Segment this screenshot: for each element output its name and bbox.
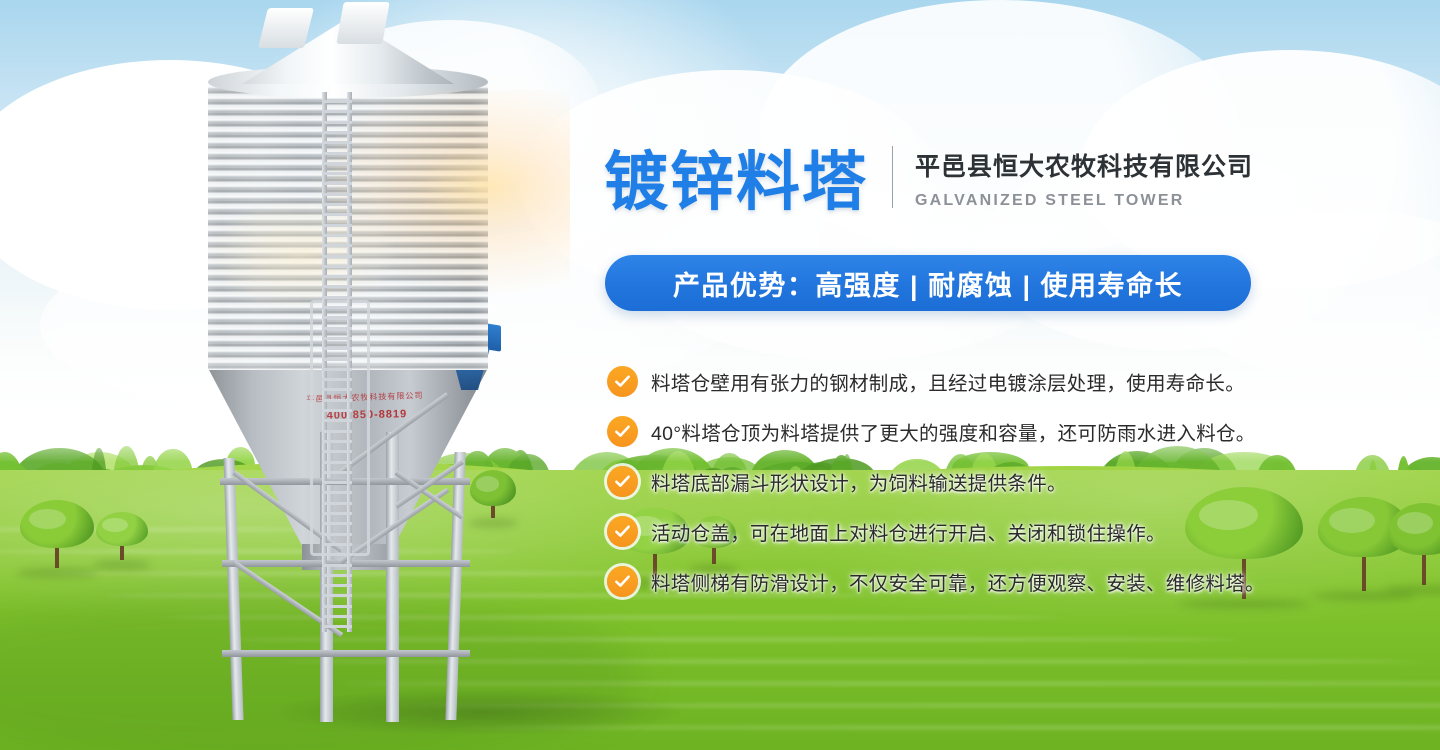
ladder-rung [322, 533, 352, 536]
feature-list: 料塔仓壁用有张力的钢材制成，且经过电镀涂层处理，使用寿命长。40°料塔仓顶为料塔… [607, 356, 1301, 606]
ladder-rung [322, 481, 352, 484]
check-icon [607, 566, 638, 597]
page-title: 镀锌料塔 [604, 150, 868, 214]
silo-roof-vent [258, 8, 314, 48]
ladder-rung [322, 450, 352, 453]
feature-item: 活动仓盖，可在地面上对料仓进行开启、关闭和锁住操作。 [607, 506, 1301, 556]
ladder-rung [322, 141, 352, 144]
ladder-rung [322, 594, 352, 597]
feature-text: 40°料塔仓顶为料塔提供了更大的强度和容量，还可防雨水进入料仓。 [651, 417, 1256, 446]
ladder-rung [322, 255, 352, 258]
ladder-rung [322, 553, 352, 556]
ladder-rung [322, 625, 352, 628]
feature-text: 活动仓盖，可在地面上对料仓进行开启、关闭和锁住操作。 [651, 517, 1166, 546]
silo-leg [223, 458, 243, 720]
feature-item: 料塔底部漏斗形状设计，为饲料输送提供条件。 [607, 456, 1301, 506]
ladder-rung [322, 224, 352, 227]
ladder-rung [322, 409, 352, 412]
check-icon [607, 516, 638, 547]
ladder-rung [322, 491, 352, 494]
title-row: 镀锌料塔 平邑县恒大农牧科技有限公司 GALVANIZED STEEL TOWE… [604, 118, 1253, 214]
company-name-en: GALVANIZED STEEL TOWER [915, 192, 1253, 210]
feature-item: 料塔侧梯有防滑设计，不仅安全可靠，还方便观察、安装、维修料塔。 [607, 556, 1301, 606]
advantage-pill: 产品优势：高强度 | 耐腐蚀 | 使用寿命长 [605, 255, 1251, 311]
tree [96, 512, 148, 566]
ladder-rung [322, 234, 352, 237]
ladder-rung [322, 574, 352, 577]
ladder-rung [322, 368, 352, 371]
silo-side-ladder [322, 92, 352, 632]
feature-text: 料塔侧梯有防滑设计，不仅安全可靠，还方便观察、安装、维修料塔。 [651, 567, 1265, 596]
silo-roof-vent [336, 2, 389, 44]
ladder-rung [322, 265, 352, 268]
ladder-rung [322, 461, 352, 464]
ladder-rung [322, 110, 352, 113]
ladder-rung [322, 512, 352, 515]
ladder-rung [322, 285, 352, 288]
ladder-rung [322, 316, 352, 319]
ladder-rung [322, 131, 352, 134]
company-block: 平邑县恒大农牧科技有限公司 GALVANIZED STEEL TOWER [915, 147, 1253, 214]
advantage-pill-label: 产品优势：高强度 | 耐腐蚀 | 使用寿命长 [673, 264, 1183, 303]
feature-text: 料塔仓壁用有张力的钢材制成，且经过电镀涂层处理，使用寿命长。 [651, 367, 1245, 396]
feature-text: 料塔底部漏斗形状设计，为饲料输送提供条件。 [651, 467, 1067, 496]
silo-horizontal-brace [222, 650, 470, 657]
ladder-rung [322, 121, 352, 124]
ladder-rung [322, 605, 352, 608]
ladder-rung [322, 172, 352, 175]
ladder-rung [322, 430, 352, 433]
ladder-rung [322, 399, 352, 402]
ladder-rung [322, 182, 352, 185]
feature-item: 料塔仓壁用有张力的钢材制成，且经过电镀涂层处理，使用寿命长。 [607, 356, 1301, 406]
ladder-rung [322, 522, 352, 525]
product-image-silo: 平邑县恒大农牧科技有限公司 400-850-8819 [150, 0, 510, 740]
ladder-rung [322, 152, 352, 155]
ladder-rung [322, 388, 352, 391]
ladder-rung [322, 543, 352, 546]
ladder-rung [322, 440, 352, 443]
ladder-rung [322, 564, 352, 567]
ladder-rung [322, 419, 352, 422]
ladder-rung [322, 244, 352, 247]
title-divider [892, 146, 893, 208]
check-icon [607, 416, 638, 447]
ladder-rung [322, 203, 352, 206]
check-icon [607, 466, 638, 497]
ladder-rung [322, 193, 352, 196]
ladder-rung [322, 615, 352, 618]
ladder-rung [322, 306, 352, 309]
banner-stage: 平邑县恒大农牧科技有限公司 400-850-8819 镀锌料塔 平邑县恒大农牧科… [0, 0, 1440, 750]
ladder-rung [322, 358, 352, 361]
ladder-rung [322, 275, 352, 278]
banner-content: 镀锌料塔 平邑县恒大农牧科技有限公司 GALVANIZED STEEL TOWE… [604, 0, 1304, 750]
ladder-rung [322, 502, 352, 505]
ladder-rung [322, 337, 352, 340]
ladder-rung [322, 100, 352, 103]
check-icon [607, 366, 638, 397]
ladder-rung [322, 584, 352, 587]
tree [20, 500, 94, 574]
ladder-rung [322, 162, 352, 165]
company-name: 平邑县恒大农牧科技有限公司 [915, 147, 1253, 183]
ladder-rung [322, 213, 352, 216]
ladder-rung [322, 378, 352, 381]
ladder-rung [322, 347, 352, 350]
ladder-rung [322, 471, 352, 474]
ladder-rung [322, 327, 352, 330]
tree [1388, 503, 1440, 591]
feature-item: 40°料塔仓顶为料塔提供了更大的强度和容量，还可防雨水进入料仓。 [607, 406, 1301, 456]
ladder-rung [322, 296, 352, 299]
